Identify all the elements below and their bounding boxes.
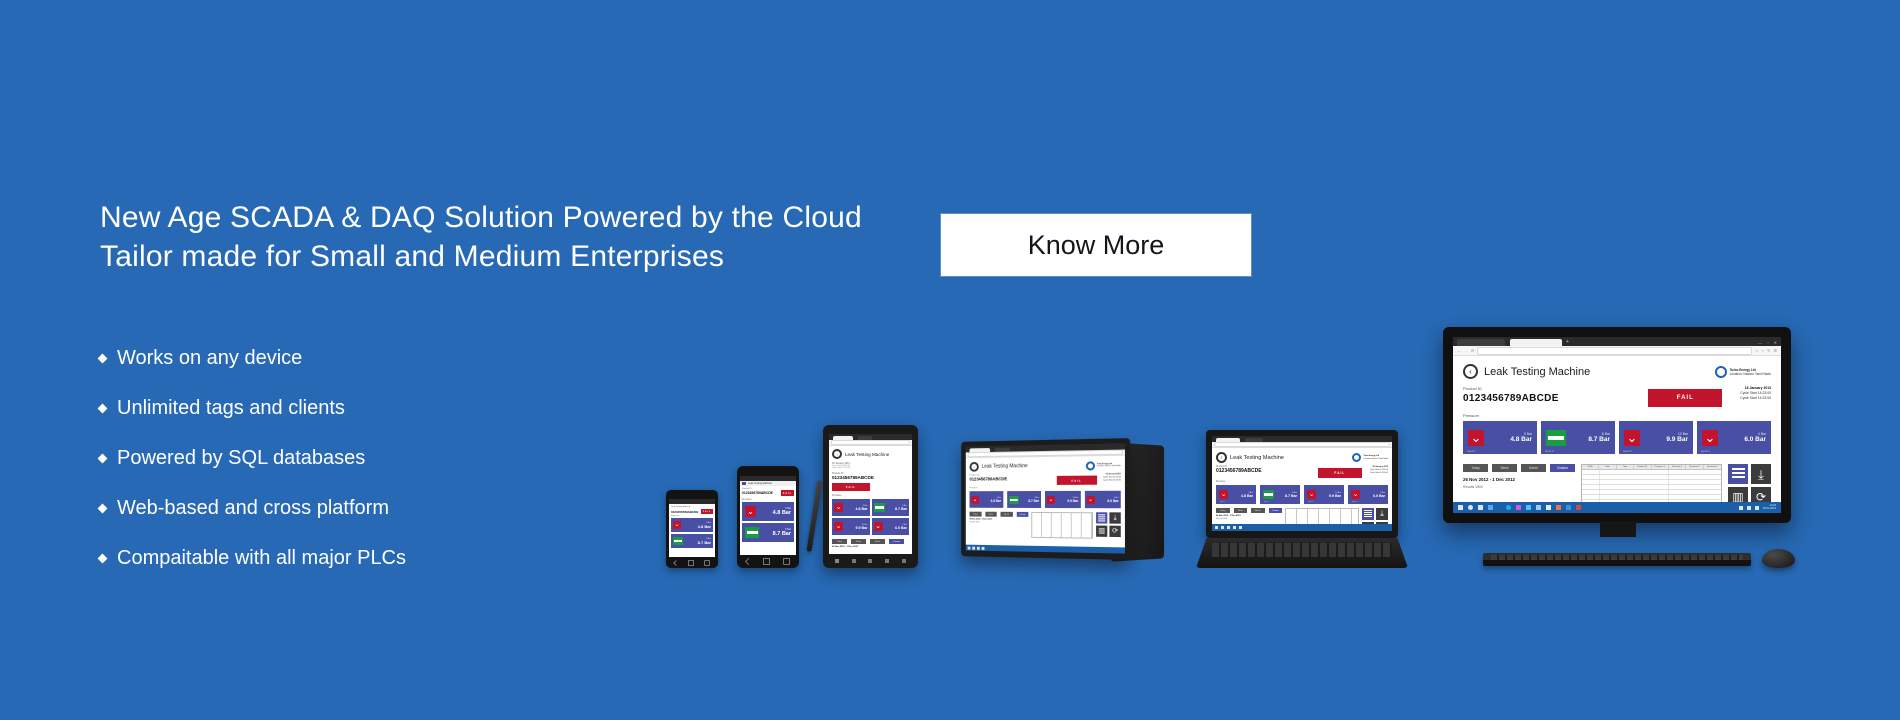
list-item: Unlimited tags and clients — [99, 383, 406, 433]
volume-icon[interactable] — [1747, 506, 1751, 510]
keyboard-keys — [1491, 555, 1743, 560]
tile-value: 9.9 Bar — [1329, 494, 1341, 498]
explorer-icon[interactable] — [1488, 505, 1493, 510]
bullet-label: Powered by SQL databases — [117, 447, 365, 470]
filter-month-button[interactable]: Month — [1251, 508, 1265, 513]
pass-bar-icon — [745, 527, 759, 538]
address-bar[interactable] — [1477, 347, 1752, 355]
share-icon[interactable]: ⌁ — [1762, 348, 1764, 353]
back-arrow-icon[interactable]: ‹ — [1463, 364, 1478, 379]
pressure-tile[interactable]: ⌄ 10 Bar9.9 Bar — [832, 518, 870, 535]
app-title: Leak Testing Machine — [845, 452, 889, 457]
chevron-down-icon: ⌄ — [971, 496, 978, 504]
status-badge: FAIL — [781, 490, 794, 496]
hero-banner: New Age SCADA & DAQ Solution Powered by … — [0, 0, 1900, 720]
date-label: 18 January 2013 — [1373, 466, 1388, 468]
brand-logo-icon — [1715, 366, 1727, 378]
filter-month-button[interactable]: Month — [1000, 512, 1012, 517]
app-title-mini: Leak Testing Machine — [671, 506, 713, 508]
tile-value: 6.0 Bar — [1744, 436, 1766, 443]
download-icon[interactable]: ⤓ — [1376, 508, 1388, 520]
table-header-cell: Date — [1599, 465, 1616, 469]
tile-value: 4.8 Bar — [773, 510, 791, 516]
table-header-cell: Pressure 2 — [1669, 465, 1686, 469]
know-more-button[interactable]: Know More — [941, 214, 1251, 276]
page-title: New Age SCADA & DAQ Solution Powered by … — [100, 198, 860, 276]
monitor-screen: + — ▫ ✕ ← → ⟳ ☆ ⌁ ✎ ☰ ‹ Leak — [1453, 337, 1781, 513]
brand-logo-icon — [1352, 453, 1361, 462]
back-icon[interactable] — [745, 558, 752, 565]
bar-chart-icon[interactable]: ▥ — [1096, 526, 1107, 537]
new-tab-icon[interactable]: + — [1566, 339, 1569, 345]
convertible-display-panel: ‹ Leak Testing Machine Turbo Energy LtdL… — [961, 438, 1130, 560]
product-id-label: Product ID — [1463, 386, 1648, 391]
home-icon[interactable] — [688, 560, 694, 566]
pressure-tile[interactable]: ⌄ 10 Bar9.9 Bar Input 3 — [1304, 485, 1344, 504]
tile-input-label: Input 1 — [1220, 502, 1225, 503]
edge-icon[interactable] — [1506, 505, 1511, 510]
tile-input-label: Input 2 — [1264, 502, 1269, 503]
pressure-tile[interactable]: 8 Bar8.7 Bar Input 2 — [1541, 421, 1615, 454]
keyboard-keys — [1212, 543, 1392, 557]
tile-value: 6.0 Bar — [1373, 494, 1385, 498]
menu-icon[interactable] — [742, 482, 746, 485]
monitor-stand — [1600, 521, 1636, 537]
pressure-tile[interactable]: 8 Bar8.7 Bar Input 2 — [1260, 485, 1300, 504]
pressure-tile[interactable]: ⌄ 4 Bar6.0 Bar Input 4 — [1697, 421, 1771, 454]
back-icon[interactable] — [673, 560, 679, 566]
pressure-tile[interactable]: ⌄ 9 Bar4.8 Bar — [742, 502, 794, 521]
pass-bar-icon — [1009, 496, 1019, 504]
filter-custom-button[interactable]: Custom — [1016, 512, 1028, 517]
product-id-value: 0123456789ABCDE — [1216, 468, 1318, 474]
phone-small-screen: Leak Testing Machine 0123456789ABCDE FAI… — [669, 499, 715, 557]
start-icon[interactable] — [835, 559, 839, 563]
chevron-down-icon: ⌄ — [874, 522, 883, 531]
diamond-bullet-icon — [98, 403, 108, 413]
list-view-icon[interactable] — [1362, 508, 1374, 520]
filter-today-button[interactable]: Today — [1216, 508, 1230, 513]
battery-icon[interactable] — [1755, 506, 1759, 510]
explorer-icon[interactable] — [1239, 526, 1242, 529]
tile-value: 8.7 Bar — [1028, 499, 1039, 503]
recents-icon[interactable] — [704, 560, 710, 566]
brand-sub: Location: Nasivur Tamil Nadu — [1363, 458, 1388, 460]
surface-display: ‹ Leak Testing Machine Turbo Energy LtdL… — [1206, 430, 1398, 538]
tile-value: 6.0 Bar — [895, 526, 907, 530]
search-icon[interactable] — [1221, 526, 1224, 529]
tile-value: 9.9 Bar — [1666, 436, 1688, 443]
list-item: Works on any device — [99, 333, 406, 383]
reload-icon[interactable]: ⟳ — [1471, 348, 1474, 353]
chevron-down-icon: ⌄ — [1702, 430, 1718, 446]
date-range: 26 Nov 2012 - 1 Dec 2012 — [1463, 477, 1575, 482]
notes-icon[interactable]: ✎ — [1767, 348, 1770, 353]
filter-custom-button[interactable]: Custom — [1550, 464, 1575, 472]
edge-icon[interactable] — [1233, 526, 1236, 529]
taskview-icon[interactable] — [1227, 526, 1230, 529]
minimize-icon[interactable]: — — [1758, 340, 1762, 345]
product-id-value: 0123456789ABCDE — [1463, 393, 1648, 404]
filter-week-button[interactable]: Week — [985, 512, 997, 517]
results-count: 1500 — [1223, 518, 1227, 520]
device-phone-small: Leak Testing Machine 0123456789ABCDE FAI… — [666, 490, 718, 568]
tile-value: 8.7 Bar — [895, 507, 907, 511]
mail-icon[interactable] — [1526, 505, 1531, 510]
pressure-tile[interactable]: 8 Bar8.7 Bar — [671, 534, 713, 548]
hub-icon[interactable]: ☰ — [1773, 348, 1777, 353]
edge-icon[interactable] — [977, 546, 980, 549]
status-badge: FAIL — [1648, 389, 1722, 407]
pressure-tile[interactable]: ⌄ 10 Bar9.9 Bar Input 3 — [1619, 421, 1693, 454]
table-header-cell: Pressure 1 — [1652, 465, 1669, 469]
phone-nav-bar — [669, 558, 715, 567]
terminal-icon[interactable] — [1546, 505, 1551, 510]
filter-custom-button[interactable]: Custom — [1269, 508, 1283, 513]
pressure-tile[interactable]: 8 Bar8.7 Bar — [1007, 491, 1041, 508]
chevron-down-icon: ⌄ — [1351, 490, 1360, 499]
cortana-icon[interactable] — [1468, 505, 1473, 510]
date-range: 26 Nov 2012 - 1 Dec 2012 — [1216, 515, 1282, 517]
clock[interactable]: 14:2318-01-2013 — [1763, 505, 1776, 511]
start-icon[interactable] — [968, 546, 971, 549]
surface-screen: ‹ Leak Testing Machine Turbo Energy LtdL… — [1212, 436, 1392, 531]
pressure-label: Pressure — [671, 515, 713, 517]
app-title: Leak Testing Machine — [1484, 366, 1590, 378]
pressure-tile[interactable]: ⌄ 9 Bar4.8 Bar — [832, 499, 870, 516]
filter-today-button[interactable]: Today — [832, 539, 847, 544]
headline-line-1: New Age SCADA & DAQ Solution Powered by … — [100, 198, 860, 237]
date-label: 18 January 2013 — [1745, 386, 1771, 390]
surface-keyboard[interactable] — [1196, 538, 1408, 568]
table-header-cell: Pressure 3 — [1686, 465, 1703, 469]
back-nav-icon[interactable]: ← — [1457, 348, 1461, 353]
results-count: 1500 — [1475, 485, 1483, 489]
tile-value: 8.7 Bar — [1588, 436, 1610, 443]
chevron-down-icon: ⌄ — [1086, 495, 1094, 503]
tile-value: 8.7 Bar — [773, 531, 791, 537]
diamond-bullet-icon — [98, 353, 108, 363]
filter-week-button[interactable]: Week — [1234, 508, 1248, 513]
brand-sub: Location: Nasivur Tamil Nadu — [1097, 465, 1121, 467]
word-icon[interactable] — [1566, 505, 1571, 510]
diamond-bullet-icon — [98, 453, 108, 463]
app-title-mini: Leak Testing Machine — [748, 482, 772, 485]
tile-input-label: Input 3 — [1308, 502, 1313, 503]
close-icon[interactable]: ✕ — [1774, 340, 1777, 345]
phone-phablet-screen: Leak Testing Machine Product ID 01234567… — [740, 476, 796, 555]
table-row — [1582, 470, 1721, 506]
desktop-mouse[interactable] — [1762, 549, 1795, 568]
bullet-label: Web-based and cross platform — [117, 497, 389, 520]
pressure-label: Pressure — [742, 498, 794, 501]
pdf-icon[interactable] — [1576, 505, 1581, 510]
pressure-tile[interactable]: ⌄ 9 Bar4.8 Bar Input 1 — [1463, 421, 1537, 454]
filter-month-button[interactable]: Month — [870, 539, 885, 544]
pressure-label: Pressure — [832, 494, 909, 497]
status-badge: FAIL — [1057, 476, 1097, 485]
date-label: 18 January 2013 — [1106, 473, 1121, 475]
feature-bullet-list: Works on any device Unlimited tags and c… — [99, 333, 406, 583]
list-view-icon[interactable] — [1096, 512, 1107, 523]
tile-value: 8.7 Bar — [698, 540, 711, 545]
tile-value: 4.8 Bar — [856, 507, 868, 511]
status-badge: FAIL — [701, 509, 713, 514]
pressure-tile[interactable]: ⌄ 9 Bar4.8 Bar Input 1 — [1216, 485, 1256, 504]
list-item: Powered by SQL databases — [99, 433, 406, 483]
brand-logo-icon — [1086, 461, 1095, 470]
pressure-tile[interactable]: 8 Bar8.7 Bar — [742, 523, 794, 542]
office-icon[interactable] — [1556, 505, 1561, 510]
store-icon[interactable] — [1516, 505, 1521, 510]
bullet-label: Unlimited tags and clients — [117, 397, 345, 420]
app-title: Leak Testing Machine — [1230, 455, 1284, 461]
store-icon[interactable] — [902, 559, 906, 563]
results-label: Results — [1216, 518, 1222, 520]
filter-today-button[interactable]: Today — [1463, 464, 1488, 472]
tile-input-label: Input 4 — [1352, 502, 1357, 503]
pass-bar-icon — [673, 537, 683, 545]
device-convertible-tent: ‹ Leak Testing Machine Turbo Energy LtdL… — [957, 440, 1169, 570]
chevron-down-icon: ⌄ — [673, 521, 681, 529]
results-label: Results — [1463, 485, 1474, 489]
pressure-tile[interactable]: ⌄ 9 Bar4.8 Bar — [969, 491, 1002, 508]
back-arrow-icon[interactable]: ‹ — [969, 462, 978, 472]
browser-tab-active[interactable] — [1510, 339, 1562, 346]
tile-value: 4.8 Bar — [1510, 436, 1532, 443]
pressure-label: Pressure — [969, 487, 1120, 490]
diamond-bullet-icon — [98, 503, 108, 513]
tile-value: 4.8 Bar — [698, 524, 711, 529]
app-title: Leak Testing Machine — [982, 463, 1028, 469]
status-badge: FAIL — [832, 483, 870, 491]
home-icon[interactable] — [763, 558, 770, 565]
photos-icon[interactable] — [1536, 505, 1541, 510]
tablet-nav-bar — [829, 556, 912, 566]
table-header-cell: Pressure 4 — [1704, 465, 1721, 469]
chevron-down-icon: ⌄ — [1219, 490, 1228, 499]
product-id-value: 0123456789ABCDE — [969, 476, 1056, 482]
tile-value: 4.8 Bar — [1241, 494, 1253, 498]
date-range: 26 Nov 2012 - 1 Dec 2012 — [832, 546, 909, 548]
back-arrow-icon[interactable]: ‹ — [832, 449, 842, 459]
list-view-icon[interactable] — [1728, 464, 1748, 484]
product-id-mini: 0123456789ABCDE — [671, 510, 699, 514]
pass-bar-icon — [874, 503, 885, 512]
start-icon[interactable] — [1215, 526, 1218, 529]
table-header-cell: Product ID — [1634, 465, 1651, 469]
pressure-tile[interactable]: ⌄ 4 Bar6.0 Bar — [1084, 491, 1120, 508]
tile-input-label: Input 3 — [1623, 449, 1632, 453]
filter-custom-button[interactable]: Custom — [889, 539, 904, 544]
pressure-tile[interactable]: 8 Bar8.7 Bar — [872, 499, 910, 516]
bullet-label: Compaitable with all major PLCs — [117, 547, 406, 570]
chevron-down-icon: ⌄ — [1624, 430, 1640, 446]
product-id-value: 0123456789ABCDE — [742, 491, 779, 495]
explorer-icon[interactable] — [982, 546, 985, 549]
chevron-down-icon: ⌄ — [1468, 430, 1484, 446]
diamond-bullet-icon — [98, 553, 108, 563]
pressure-label: Pressure — [1216, 481, 1388, 483]
pass-bar-icon — [1263, 490, 1274, 499]
search-icon[interactable] — [972, 546, 975, 549]
tile-input-label: Input 1 — [1467, 449, 1476, 453]
search-icon[interactable] — [852, 559, 856, 563]
brand-sub: Location: Nasivur Tamil Nadu — [1730, 372, 1771, 376]
table-header-cell: Sl.No — [1582, 465, 1599, 469]
filter-week-button[interactable]: Week — [851, 539, 866, 544]
tile-value: 9.9 Bar — [856, 526, 868, 530]
pressure-tile[interactable]: ⌄ 4 Bar6.0 Bar — [872, 518, 910, 535]
table-header-cell: Time — [1617, 465, 1634, 469]
back-arrow-icon[interactable]: ‹ — [1216, 452, 1227, 463]
tile-value: 4.8 Bar — [991, 499, 1001, 503]
cycle-start-2: Cycle Start 14:23:00 — [1370, 472, 1388, 475]
start-icon[interactable] — [1458, 505, 1463, 510]
forward-nav-icon[interactable]: → — [1464, 348, 1468, 353]
network-icon[interactable] — [1739, 506, 1743, 510]
device-phone-phablet: Leak Testing Machine Product ID 01234567… — [737, 466, 799, 568]
tile-value: 8.7 Bar — [1285, 494, 1297, 498]
chevron-down-icon: ⌄ — [1307, 490, 1316, 499]
chevron-down-icon: ⌄ — [745, 506, 756, 517]
download-icon[interactable]: ⤓ — [1751, 464, 1771, 484]
edge-icon[interactable] — [885, 559, 889, 563]
bullet-label: Works on any device — [117, 347, 302, 370]
device-tablet: ‹ Leak Testing Machine 18 January 2013 C… — [823, 425, 918, 568]
desktop-keyboard[interactable] — [1483, 553, 1751, 566]
download-icon[interactable]: ⤓ — [1109, 512, 1120, 523]
pressure-label: Pressure — [1463, 413, 1771, 418]
pressure-tile[interactable]: ⌄ 9 Bar4.8 Bar — [671, 518, 713, 532]
tablet-screen: ‹ Leak Testing Machine 18 January 2013 C… — [829, 434, 912, 554]
results-count: 1500 — [976, 521, 980, 523]
chevron-down-icon: ⌄ — [834, 503, 843, 512]
cycle-start-2: Cycle Start 14:23:00 — [1103, 479, 1121, 482]
chevron-down-icon: ⌄ — [1047, 495, 1055, 503]
tile-input-label: Input 4 — [1701, 449, 1710, 453]
tile-input-label: Input 2 — [1545, 449, 1554, 453]
pass-bar-icon — [1546, 430, 1566, 446]
cycle-start-2: Cycle Start 14:23:00 — [1740, 396, 1771, 401]
tile-value: 9.9 Bar — [1067, 498, 1078, 502]
taskview-icon[interactable] — [1478, 505, 1483, 510]
status-badge: FAIL — [1318, 468, 1362, 478]
browser-tab-inactive[interactable] — [1457, 339, 1505, 346]
stylus-pen — [806, 480, 822, 552]
maximize-icon[interactable]: ▫ — [1767, 340, 1768, 345]
filter-today-button[interactable]: Today — [969, 512, 981, 517]
headline-line-2: Tailor made for Small and Medium Enterpr… — [100, 237, 860, 276]
results-table[interactable] — [1031, 512, 1093, 539]
pressure-tile[interactable]: ⌄ 10 Bar9.9 Bar — [1045, 491, 1080, 508]
results-label: Results — [969, 521, 975, 523]
cycle-start-2: Cycle Start 14:23:00 — [832, 467, 909, 469]
pressure-tile[interactable]: ⌄ 4 Bar6.0 Bar Input 4 — [1348, 485, 1388, 504]
product-id-value: 0123456789ABCDE — [832, 475, 909, 480]
phone-nav-bar — [740, 556, 796, 567]
filter-month-button[interactable]: Month — [1521, 464, 1546, 472]
refresh-icon[interactable]: ⟳ — [1109, 526, 1120, 537]
taskview-icon[interactable] — [868, 559, 872, 563]
list-item: Web-based and cross platform — [99, 483, 406, 533]
favorites-icon[interactable]: ☆ — [1755, 348, 1759, 353]
tile-value: 6.0 Bar — [1107, 498, 1118, 502]
device-surface-laptop: ‹ Leak Testing Machine Turbo Energy LtdL… — [1196, 430, 1408, 578]
recents-icon[interactable] — [783, 558, 790, 565]
device-desktop-monitor: + — ▫ ✕ ← → ⟳ ☆ ⌁ ✎ ☰ ‹ Leak — [1443, 327, 1791, 523]
chevron-down-icon: ⌄ — [834, 522, 843, 531]
convertible-screen: ‹ Leak Testing Machine Turbo Energy LtdL… — [966, 443, 1125, 553]
filter-week-button[interactable]: Week — [1492, 464, 1517, 472]
list-item: Compaitable with all major PLCs — [99, 533, 406, 583]
